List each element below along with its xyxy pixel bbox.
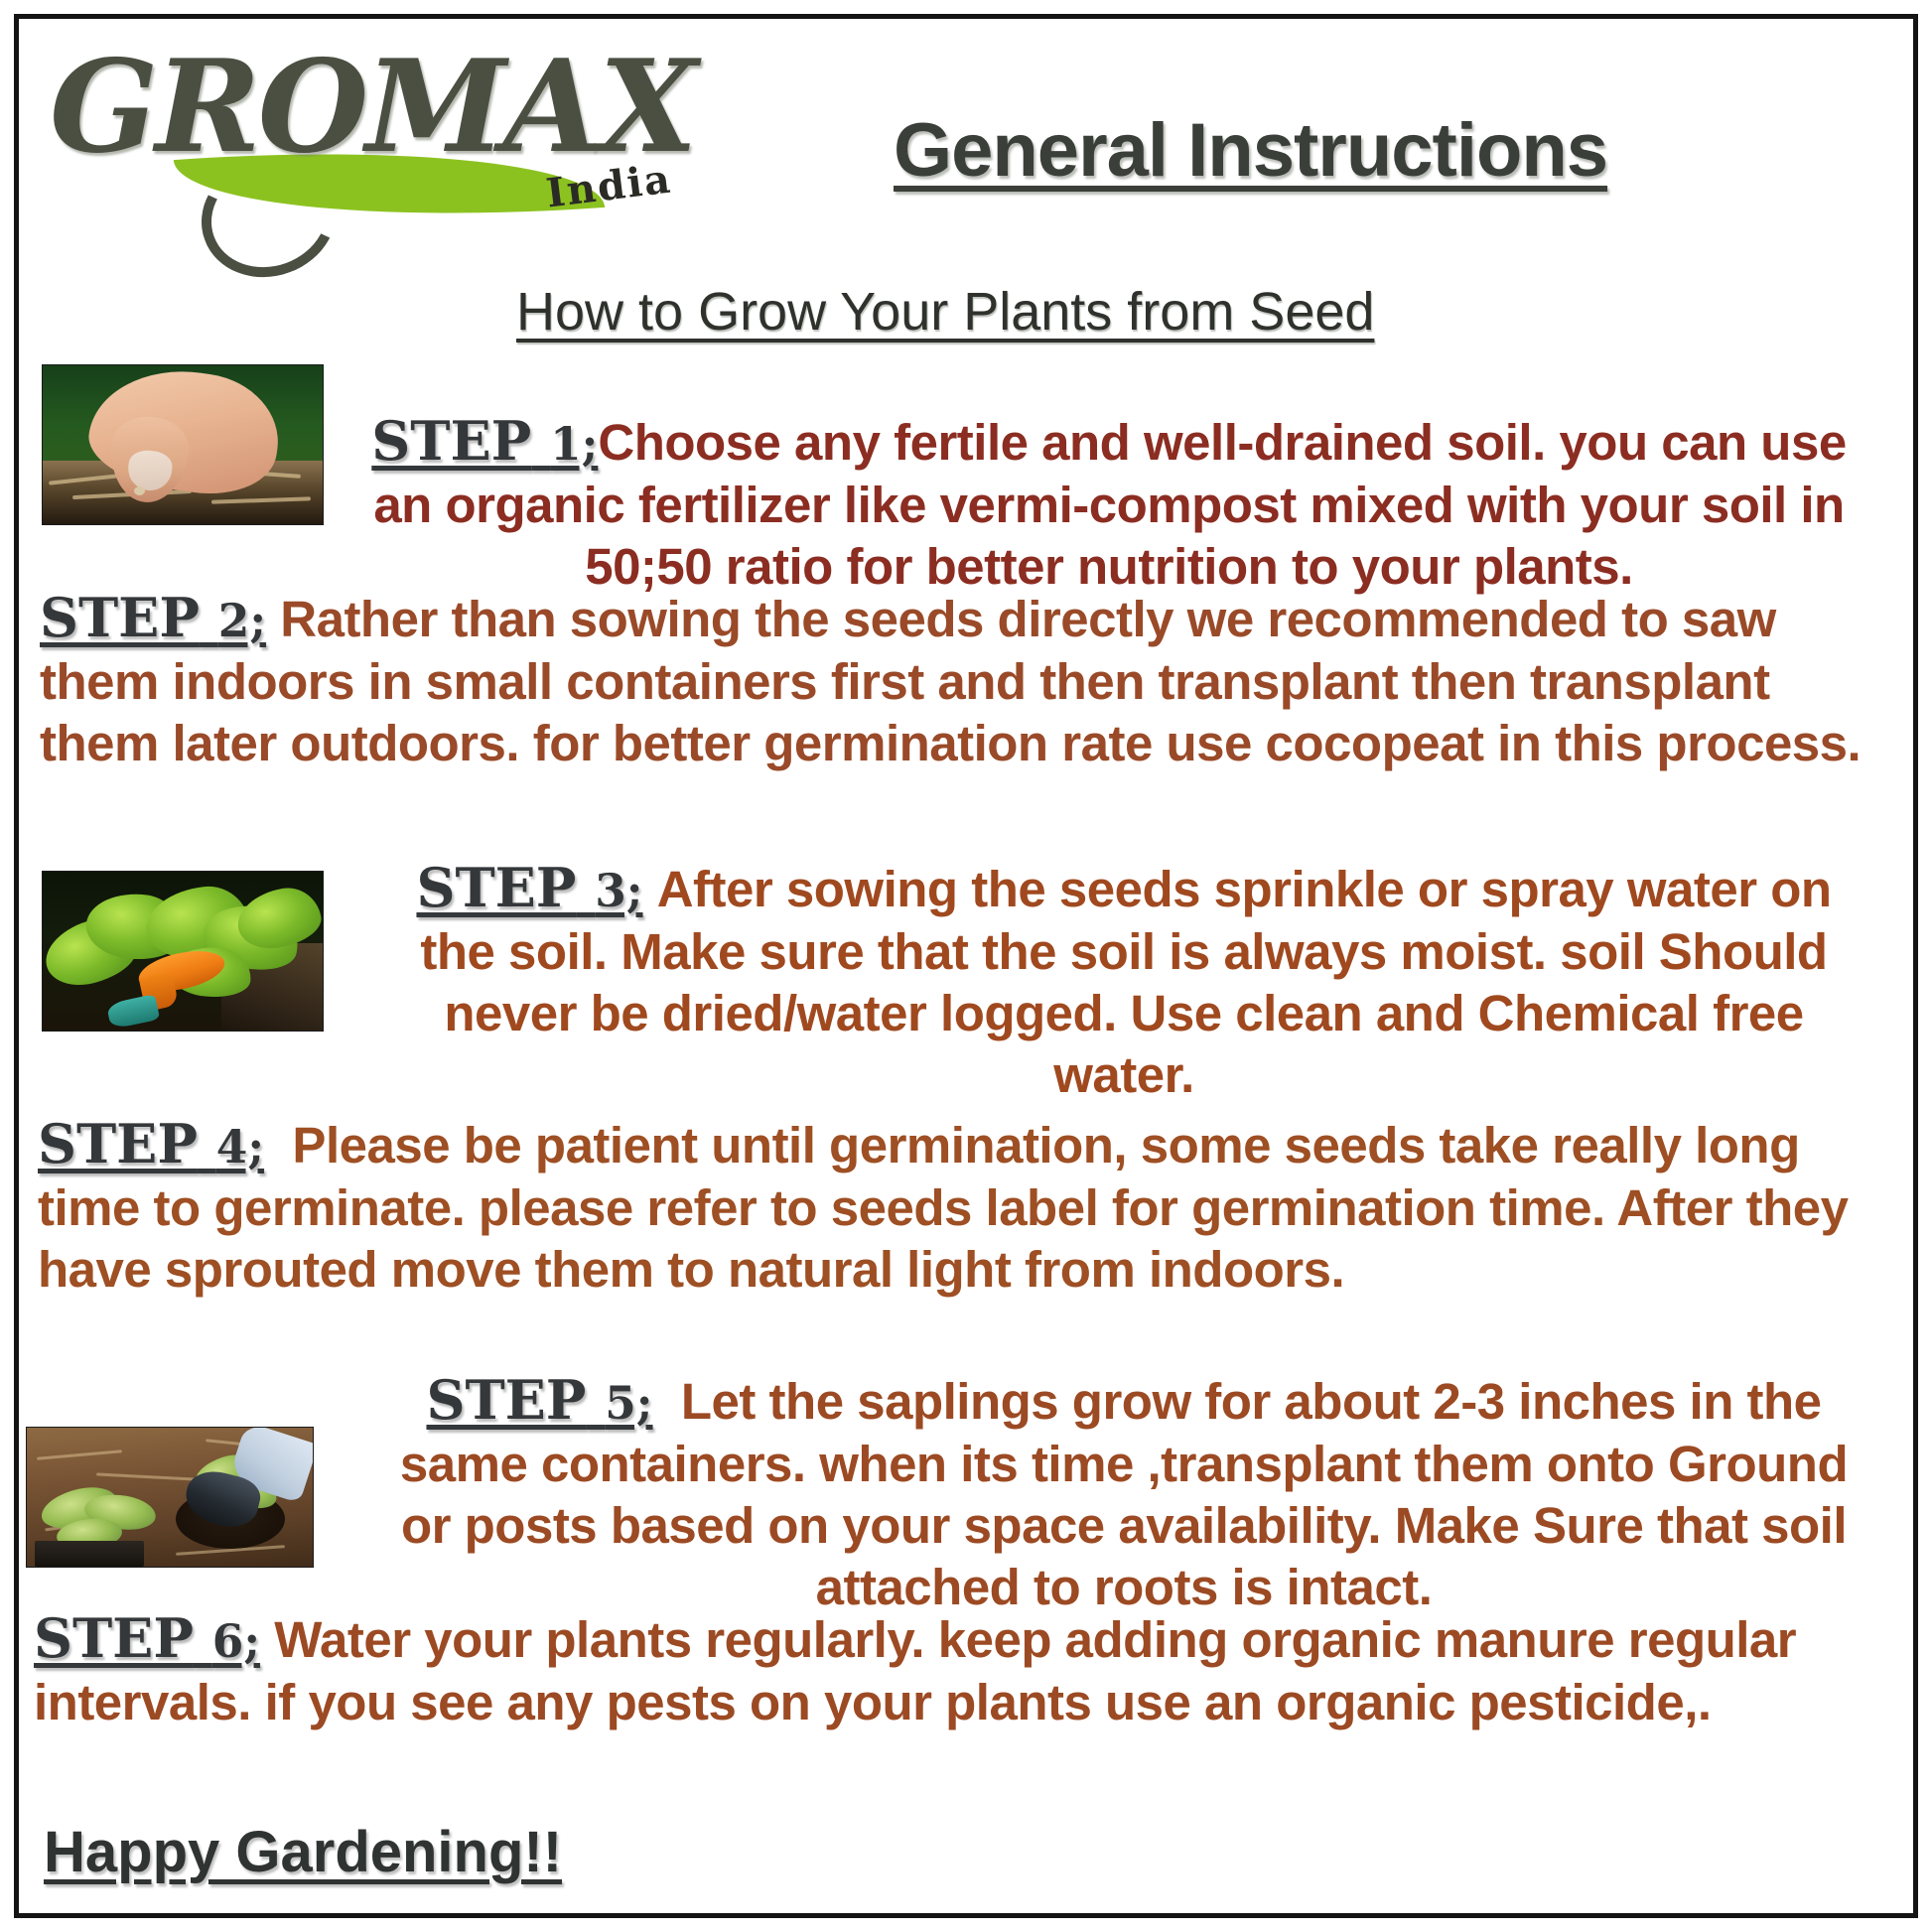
step-5-label: STEP 5; (426, 1368, 652, 1432)
transplanting-seedling-photo (26, 1427, 314, 1568)
page-title: General Instructions (894, 107, 1607, 194)
instruction-poster: GROMAX India General Instructions How to… (0, 0, 1932, 1932)
step-2-block: STEP 2; Rather than sowing the seeds dir… (40, 586, 1866, 774)
step-2-label: STEP 2; (40, 586, 266, 649)
hand-sowing-seed-photo (42, 364, 324, 525)
seedling-tray (35, 1541, 144, 1567)
step-6-text: Water your plants regularly. keep adding… (34, 1611, 1796, 1730)
watering-lettuce-photo (42, 871, 324, 1032)
step-3-label: STEP 3; (416, 856, 642, 919)
step-3-block: STEP 3; After sowing the seeds sprinkle … (379, 856, 1868, 1107)
step-2-text: Rather than sowing the seeds directly we… (40, 591, 1861, 771)
page-subtitle: How to Grow Your Plants from Seed (516, 281, 1374, 343)
step-4-label: STEP 4; (38, 1112, 264, 1175)
step-1-label: STEP 1; (371, 409, 598, 473)
step-5-block: STEP 5; Let the saplings grow for about … (379, 1368, 1868, 1619)
step-1-block: STEP 1;Choose any fertile and well-drain… (349, 409, 1868, 598)
closing-message: Happy Gardening!! (44, 1819, 562, 1885)
poster-content: GROMAX India General Instructions How to… (0, 0, 1932, 1932)
seed-shape (134, 486, 145, 495)
step-4-block: STEP 4; Please be patient until germinat… (38, 1112, 1869, 1301)
step-6-block: STEP 6; Water your plants regularly. kee… (34, 1606, 1870, 1733)
gromax-logo: GROMAX India (42, 48, 677, 236)
logo-wordmark: GROMAX (50, 44, 695, 171)
step-6-label: STEP 6; (34, 1606, 260, 1670)
step-4-text: Please be patient until germination, som… (38, 1117, 1848, 1298)
